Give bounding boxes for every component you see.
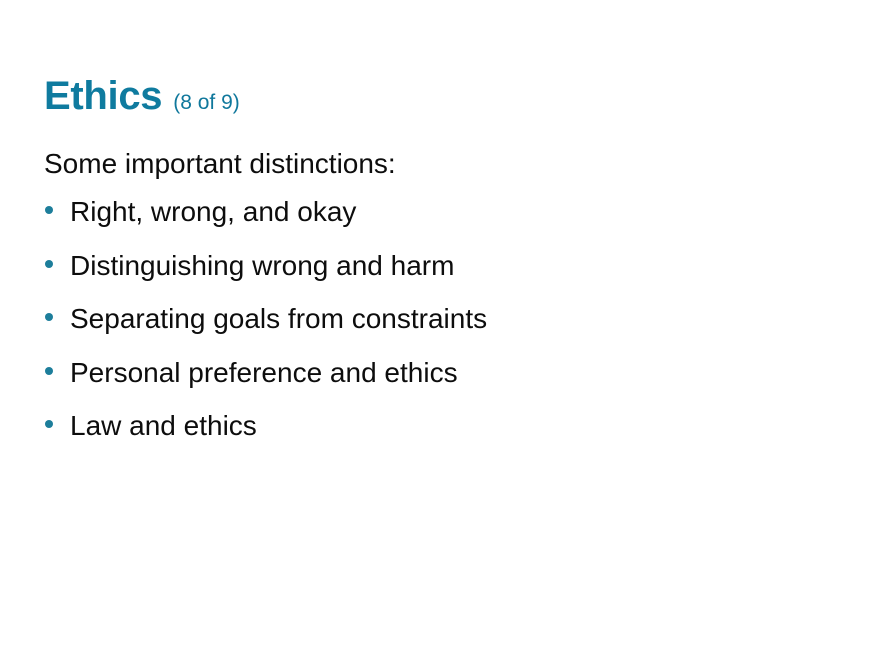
list-item-label: Distinguishing wrong and harm: [70, 252, 454, 280]
list-item: Separating goals from constraints: [44, 305, 844, 359]
slide-canvas: Ethics (8 of 9) Some important distincti…: [0, 0, 880, 660]
list-item-label: Law and ethics: [70, 412, 257, 440]
page-title: Ethics: [44, 76, 162, 116]
bullet-dot-icon: [45, 367, 53, 375]
list-item-label: Right, wrong, and okay: [70, 198, 356, 226]
list-item: Distinguishing wrong and harm: [44, 252, 844, 306]
bullet-dot-icon: [45, 206, 53, 214]
intro-text: Some important distinctions:: [44, 150, 844, 178]
bullet-list: Right, wrong, and okay Distinguishing wr…: [44, 198, 844, 466]
bullet-dot-icon: [45, 260, 53, 268]
list-item-label: Separating goals from constraints: [70, 305, 487, 333]
list-item: Personal preference and ethics: [44, 359, 844, 413]
bullet-dot-icon: [45, 420, 53, 428]
slide-counter: (8 of 9): [173, 92, 240, 113]
slide-title: Ethics (8 of 9): [44, 76, 240, 116]
bullet-dot-icon: [45, 313, 53, 321]
list-item-label: Personal preference and ethics: [70, 359, 458, 387]
list-item: Right, wrong, and okay: [44, 198, 844, 252]
slide-body: Some important distinctions: Right, wron…: [44, 150, 844, 466]
list-item: Law and ethics: [44, 412, 844, 466]
